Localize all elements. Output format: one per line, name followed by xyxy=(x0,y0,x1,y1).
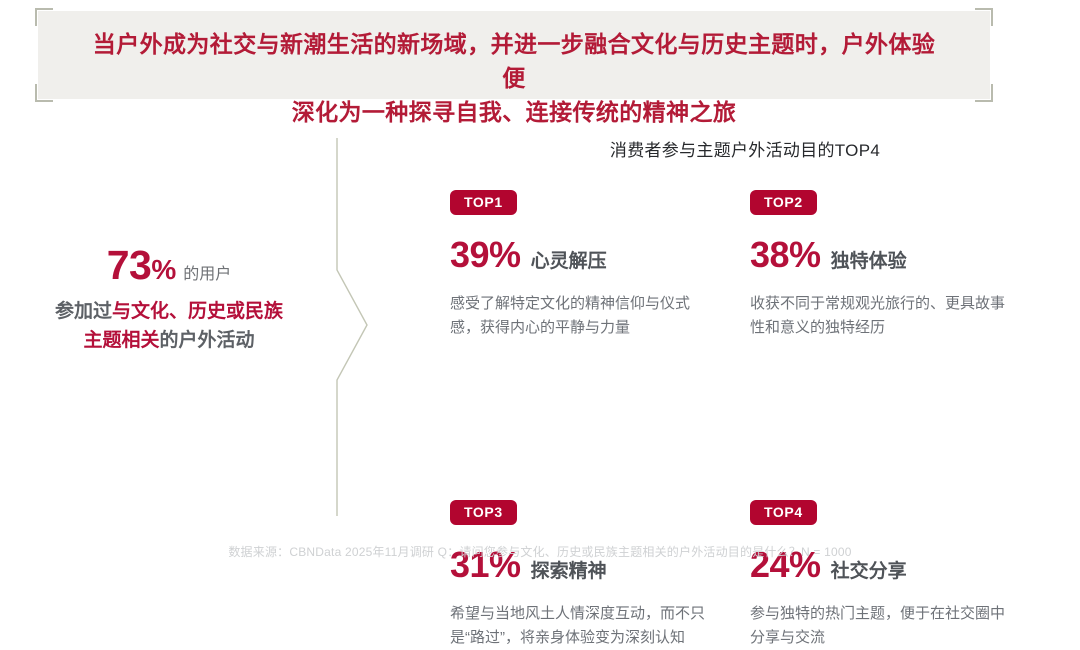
card-label-3: 探索精神 xyxy=(531,561,607,582)
card-description-3: 希望与当地风土人情深度互动，而不只是“路过”，将亲身体验变为深刻认知 xyxy=(450,602,710,650)
stat-suffix-label: 的用户 xyxy=(183,266,231,283)
top-card-2: TOP2 38%独特体验 收获不同于常规观光旅行的、更具故事性和意义的独特经历 xyxy=(750,190,1050,340)
stat-number: 73 xyxy=(107,242,152,288)
card-row-1: TOP1 39%心灵解压 感受了解特定文化的精神信仰与仪式感，获得内心的平静与力… xyxy=(450,190,1050,340)
corner-bracket-top-left xyxy=(35,8,53,26)
card-row-2: TOP3 31%探索精神 希望与当地风土人情深度互动，而不只是“路过”，将亲身体… xyxy=(450,500,1050,650)
card-label-4: 社交分享 xyxy=(831,561,907,582)
header-banner: 当户外成为社交与新潮生活的新场域，并进一步融合文化与历史主题时，户外体验便 深化… xyxy=(38,11,990,99)
card-head-2: 38%独特体验 xyxy=(750,236,1050,282)
section-title: 消费者参与主题户外活动目的TOP4 xyxy=(455,136,1035,161)
divider-arrow xyxy=(330,138,374,516)
stat-desc-gray-1: 参加过 xyxy=(55,301,112,322)
key-stat-block: 73%的用户 参加过与文化、历史或民族 主题相关的户外活动 xyxy=(14,243,324,355)
source-footnote: 数据来源：CBNData 2025年11月调研 Q：请问您参与文化、历史或民族主… xyxy=(0,543,1080,560)
rank-badge-3: TOP3 xyxy=(450,500,517,525)
card-head-1: 39%心灵解压 xyxy=(450,236,750,282)
stat-desc-red-1: 与文化、历史或民族 xyxy=(112,301,283,322)
card-description-2: 收获不同于常规观光旅行的、更具故事性和意义的独特经历 xyxy=(750,292,1010,340)
card-percent-2: 38% xyxy=(750,234,821,275)
stat-description-line-2: 主题相关的户外活动 xyxy=(14,326,324,355)
top-card-3: TOP3 31%探索精神 希望与当地风土人情深度互动，而不只是“路过”，将亲身体… xyxy=(450,500,750,650)
stat-headline: 73%的用户 xyxy=(14,243,324,297)
rank-badge-2: TOP2 xyxy=(750,190,817,215)
banner-headline-line-1: 当户外成为社交与新潮生活的新场域，并进一步融合文化与历史主题时，户外体验便 xyxy=(82,27,946,95)
card-percent-1: 39% xyxy=(450,234,521,275)
top-card-4: TOP4 24%社交分享 参与独特的热门主题，便于在社交圈中分享与交流 xyxy=(750,500,1050,650)
stat-desc-gray-2: 的户外活动 xyxy=(160,330,255,351)
card-label-2: 独特体验 xyxy=(831,251,907,272)
corner-bracket-top-right xyxy=(975,8,993,26)
stat-desc-red-2: 主题相关 xyxy=(83,330,159,351)
banner-headline-line-2: 深化为一种探寻自我、连接传统的精神之旅 xyxy=(82,95,946,129)
top-card-1: TOP1 39%心灵解压 感受了解特定文化的精神信仰与仪式感，获得内心的平静与力… xyxy=(450,190,750,340)
card-description-4: 参与独特的热门主题，便于在社交圈中分享与交流 xyxy=(750,602,1010,650)
banner-headline: 当户外成为社交与新潮生活的新场域，并进一步融合文化与历史主题时，户外体验便 深化… xyxy=(82,27,946,129)
card-label-1: 心灵解压 xyxy=(531,251,607,272)
top4-card-grid: TOP1 39%心灵解压 感受了解特定文化的精神信仰与仪式感，获得内心的平静与力… xyxy=(450,190,1050,650)
corner-bracket-bottom-right xyxy=(975,84,993,102)
stat-description-line-1: 参加过与文化、历史或民族 xyxy=(14,297,324,326)
corner-bracket-bottom-left xyxy=(35,84,53,102)
rank-badge-1: TOP1 xyxy=(450,190,517,215)
card-description-1: 感受了解特定文化的精神信仰与仪式感，获得内心的平静与力量 xyxy=(450,292,710,340)
rank-badge-4: TOP4 xyxy=(750,500,817,525)
stat-percent-sign: % xyxy=(151,254,176,285)
